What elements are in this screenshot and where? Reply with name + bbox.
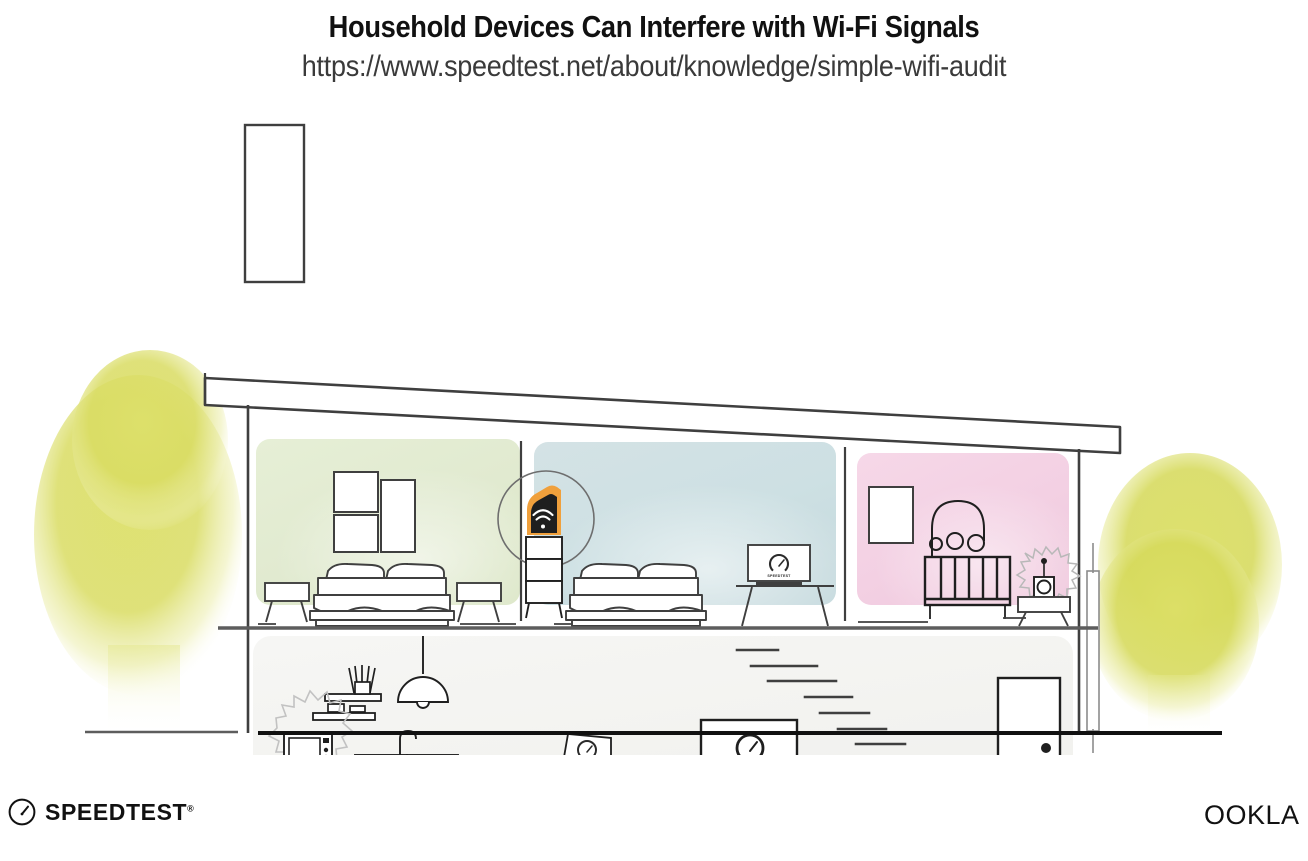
speedtest-trademark: ® xyxy=(187,803,194,813)
bed-left xyxy=(310,564,454,626)
front-door[interactable] xyxy=(998,678,1060,755)
room-nursery xyxy=(857,453,1080,626)
speedtest-wordmark-text: SPEEDTEST xyxy=(45,799,187,825)
page-url: https://www.speedtest.net/about/knowledg… xyxy=(65,46,1242,83)
speedtest-logo[interactable]: SPEEDTEST® xyxy=(8,798,194,826)
door-knob[interactable] xyxy=(1041,743,1051,753)
wall-frame-square-top xyxy=(334,472,378,512)
microwave-display xyxy=(323,738,329,743)
ookla-logo[interactable]: OOKLA xyxy=(1204,800,1308,840)
room-bedroom-middle: SPEEDTEST xyxy=(498,442,836,626)
tree-left xyxy=(34,350,242,735)
wifi-router[interactable] xyxy=(527,486,561,536)
tree-right xyxy=(1091,453,1282,737)
house-illustration-svg: SPEEDTEST xyxy=(0,105,1308,755)
wifi-icon-dot xyxy=(541,525,545,529)
wall-frame-tall xyxy=(381,480,415,552)
shelf-unit xyxy=(526,537,562,618)
wall-frames-left xyxy=(334,472,415,552)
bed-middle xyxy=(566,564,706,626)
side-table-nursery xyxy=(1018,597,1070,626)
microwave[interactable] xyxy=(284,733,332,755)
chimney xyxy=(245,125,304,282)
baby-monitor-antenna-tip xyxy=(1041,558,1047,564)
wall-frame-nursery xyxy=(869,487,913,543)
page-title: Household Devices Can Interfere with Wi-… xyxy=(78,0,1229,46)
wall-frame-square-bottom xyxy=(334,515,378,552)
header: Household Devices Can Interfere with Wi-… xyxy=(0,0,1308,83)
room-downstairs: SPEEDTEST SPEEDTEST xyxy=(253,636,1073,755)
laptop-bedroom-middle[interactable]: SPEEDTEST xyxy=(748,545,810,585)
downpipe xyxy=(1087,571,1099,731)
speedtest-wordmark: SPEEDTEST® xyxy=(45,799,194,826)
microwave-dial xyxy=(324,748,328,752)
laptop-dining-table[interactable]: SPEEDTEST xyxy=(560,734,614,755)
footer: SPEEDTEST® OOKLA xyxy=(0,780,1308,861)
room-bedroom-left xyxy=(256,439,520,626)
television-downstairs[interactable]: SPEEDTEST xyxy=(701,720,797,755)
speedtest-gauge-icon xyxy=(8,798,36,826)
laptop-screen-label: SPEEDTEST xyxy=(767,574,791,578)
house-illustration: SPEEDTEST xyxy=(0,105,1308,755)
ookla-wordmark: OOKLA xyxy=(1204,800,1308,831)
